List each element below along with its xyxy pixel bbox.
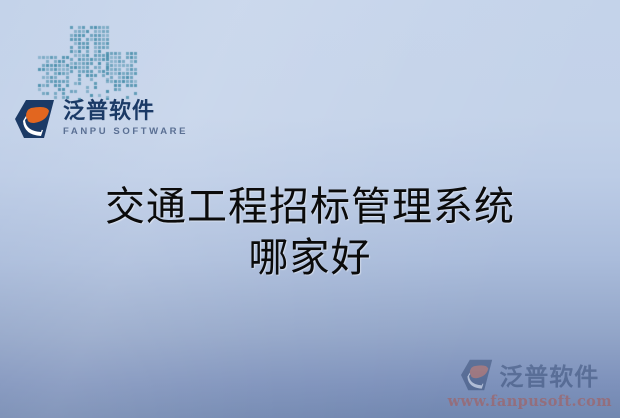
watermark: 泛普软件 www.fanpusoft.com <box>448 357 612 410</box>
watermark-brand-name: 泛普软件 <box>499 357 599 392</box>
brand-name-cn: 泛普软件 <box>63 101 188 123</box>
slide-title-line-1: 交通工程招标管理系统 <box>0 182 620 233</box>
brand-logo-text: 泛普软件 FANPU SOFTWARE <box>63 101 188 137</box>
slide-title: 交通工程招标管理系统 哪家好 <box>0 182 620 284</box>
presentation-slide: 泛普软件 FANPU SOFTWARE 交通工程招标管理系统 哪家好 泛普软件 … <box>0 0 620 418</box>
watermark-logo-mark-icon <box>460 359 494 391</box>
watermark-logo-row: 泛普软件 <box>460 357 599 392</box>
brand-name-en: FANPU SOFTWARE <box>63 127 188 137</box>
pixel-skyline-icon <box>34 12 138 100</box>
fanpu-logo-mark-icon <box>14 99 56 139</box>
watermark-url: www.fanpusoft.com <box>448 393 612 410</box>
brand-logo: 泛普软件 FANPU SOFTWARE <box>14 99 188 139</box>
slide-title-line-2: 哪家好 <box>0 233 620 284</box>
